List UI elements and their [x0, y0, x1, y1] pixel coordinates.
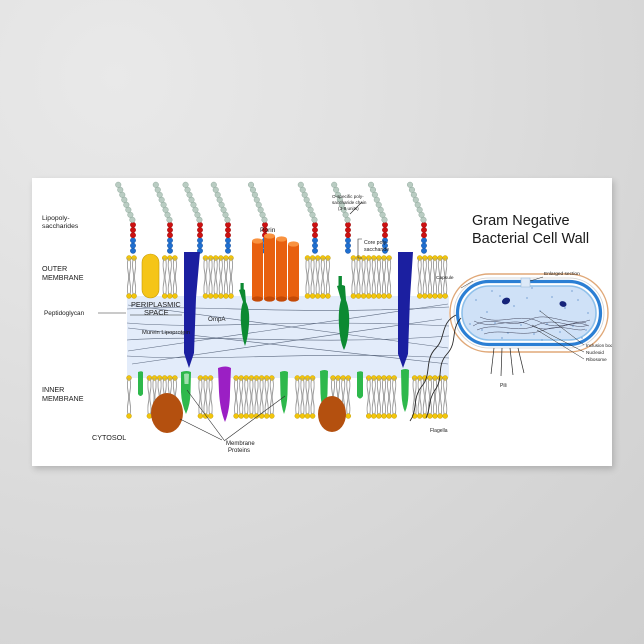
label-ompa: OmpA	[208, 316, 226, 323]
lps-chain-9	[407, 182, 426, 254]
label-membrane-proteins-line1: Membrane	[226, 441, 255, 447]
porin-complex	[252, 233, 299, 301]
label-periplasmic-space-line2: SPACE	[144, 308, 169, 317]
label-lipopolysaccharides-line2: saccharides	[42, 223, 79, 230]
inner-membrane-protein-green-3	[280, 371, 288, 414]
cytosolic-protein-brown-2	[318, 396, 346, 432]
page-title-line2: Bacterial Cell Wall	[472, 231, 589, 247]
label-flagella: Flagella	[430, 428, 448, 434]
inner-membrane-protein-purple	[218, 367, 231, 423]
inner-membrane-protein-green-1	[138, 371, 143, 396]
label-cytosol: CYTOSOL	[92, 433, 126, 442]
label-core-poly-line1: Core poly-	[364, 240, 388, 246]
page-title-line1: Gram Negative	[472, 213, 570, 229]
outer-membrane-protein-yellow	[142, 254, 159, 298]
lps-chain-6	[298, 182, 318, 254]
label-nucleoid: Nucleoid	[586, 350, 604, 355]
inner-membrane-protein-green-2	[181, 371, 191, 414]
label-ribosome: Ribosome	[586, 357, 607, 362]
label-murein-lipoprotein: Murein Lipoprotein	[142, 330, 190, 336]
label-core-poly-line2: saccharide	[364, 247, 389, 253]
label-enlarged-section: Enlarged section	[544, 271, 580, 277]
label-o-specific-line3: (3-8 units)	[338, 206, 359, 211]
label-inclusion-body: Inclusion body	[586, 343, 612, 348]
label-peptidoglycan: Peptidoglycan	[44, 310, 85, 317]
label-outer-membrane-line2: MEMBRANE	[42, 273, 84, 282]
inner-membrane-protein-green-5	[357, 371, 363, 398]
lps-chain-7	[331, 182, 350, 254]
lps-chain-4	[211, 182, 231, 254]
label-pili: Pili	[500, 383, 507, 389]
label-o-specific-line2: saccharide chain	[332, 200, 367, 205]
label-inner-membrane-line2: MEMBRANE	[42, 394, 84, 403]
label-inner-membrane-line1: INNER	[42, 385, 64, 394]
enlarged-section-marker	[521, 278, 530, 287]
label-porin: Porin	[260, 227, 276, 234]
label-o-specific-line1: O-specific poly-	[332, 194, 364, 199]
label-outer-membrane-line1: OUTER	[42, 264, 67, 273]
label-membrane-proteins-line2: Proteins	[228, 448, 250, 454]
cytosolic-protein-brown	[151, 393, 183, 433]
lps-chain-3	[183, 182, 203, 254]
label-capsule: Capsule	[436, 275, 454, 281]
poster-canvas: Lipopoly- saccharides OUTER MEMBRANE Pep…	[32, 178, 612, 466]
label-lipopolysaccharides-line1: Lipopoly-	[42, 215, 70, 222]
lps-chain-2	[153, 182, 173, 254]
inner-membrane-protein-green-6	[401, 369, 409, 412]
lps-chain-1	[115, 182, 135, 254]
